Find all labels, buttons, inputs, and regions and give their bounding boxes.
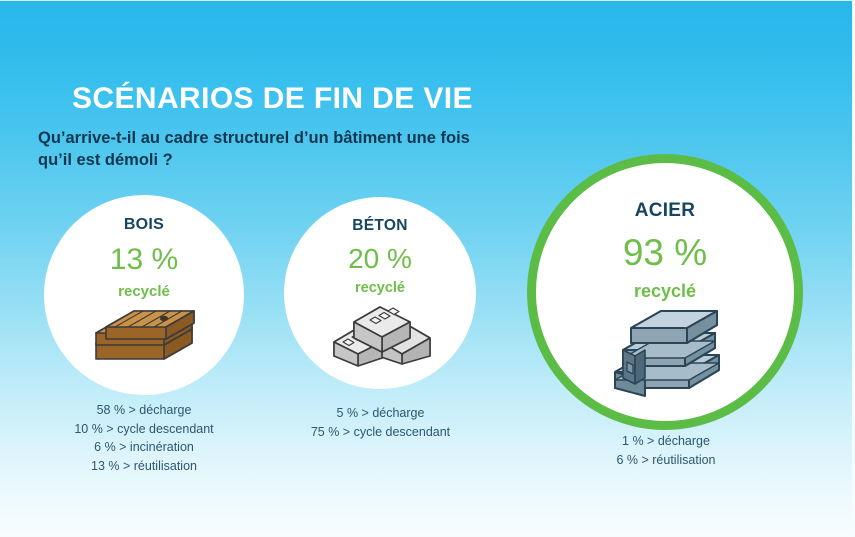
fate-line: 5 % > décharge: [278, 404, 483, 423]
material-percent-beton: 20 %: [348, 245, 412, 273]
fate-line: 6 % > incinération: [44, 438, 244, 457]
material-circle-beton-content: BÉTON 20 % recyclé: [284, 197, 476, 389]
page-title: SCÉNARIOS DE FIN DE VIE: [72, 83, 558, 115]
material-recycled-label-beton: recyclé: [355, 281, 405, 296]
steel-beams-icon: [601, 300, 729, 402]
fate-list-bois: 58 % > décharge 10 % > cycle descendant …: [44, 401, 244, 475]
material-circle-bois-content: BOIS 13 % recyclé: [44, 195, 244, 395]
material-recycled-label-acier: recyclé: [634, 282, 696, 300]
fate-line: 13 % > réutilisation: [44, 457, 244, 476]
material-name-bois: BOIS: [124, 216, 164, 234]
material-circle-bois[interactable]: BOIS 13 % recyclé: [44, 195, 244, 395]
page-subtitle: Qu’arrive-t-il au cadre structurel d’un …: [38, 127, 493, 171]
infographic-canvas: SCÉNARIOS DE FIN DE VIE Qu’arrive-t-il a…: [0, 0, 855, 537]
material-name-acier: ACIER: [635, 200, 696, 222]
fate-line: 6 % > réutilisation: [566, 451, 766, 470]
material-percent-bois: 13 %: [110, 245, 178, 275]
fate-line: 58 % > décharge: [44, 401, 244, 420]
fate-list-acier: 1 % > décharge 6 % > réutilisation: [566, 432, 766, 469]
fate-line: 75 % > cycle descendant: [278, 423, 483, 442]
material-circle-beton[interactable]: BÉTON 20 % recyclé: [284, 197, 476, 389]
fate-list-beton: 5 % > décharge 75 % > cycle descendant: [278, 404, 483, 441]
fate-line: 10 % > cycle descendant: [44, 420, 244, 439]
header: SCÉNARIOS DE FIN DE VIE Qu’arrive-t-il a…: [38, 83, 558, 171]
wood-stack-icon: [88, 299, 200, 369]
material-circle-acier[interactable]: ACIER 93 % recyclé: [527, 154, 803, 430]
material-recycled-label-bois: recyclé: [118, 284, 170, 299]
material-circle-acier-content: ACIER 93 % recyclé: [536, 163, 794, 421]
fate-line: 1 % > décharge: [566, 432, 766, 451]
concrete-blocks-icon: [326, 296, 434, 368]
material-name-beton: BÉTON: [352, 217, 407, 235]
material-percent-acier: 93 %: [623, 234, 707, 271]
